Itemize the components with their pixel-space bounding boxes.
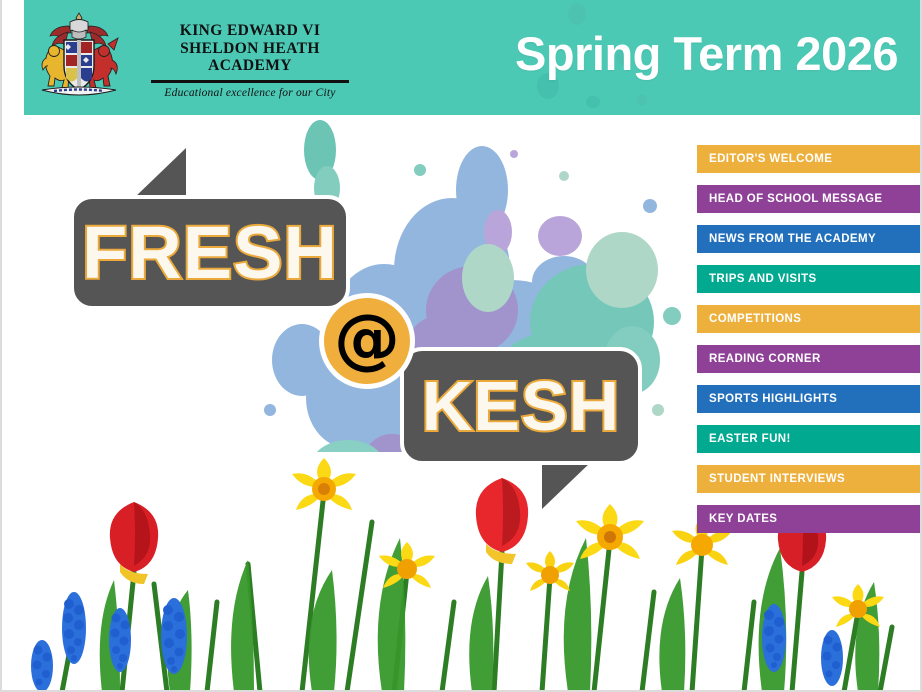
contents-menu-item[interactable]: STUDENT INTERVIEWS — [697, 465, 920, 493]
contents-menu: EDITOR'S WELCOMEHEAD OF SCHOOL MESSAGENE… — [697, 145, 920, 533]
contents-menu-item[interactable]: COMPETITIONS — [697, 305, 920, 333]
school-name-line-3: ACADEMY — [120, 57, 380, 75]
contents-menu-item-label: NEWS FROM THE ACADEMY — [709, 233, 876, 245]
newsletter-cover: KING EDWARD VI SHELDON HEATH ACADEMY Edu… — [0, 0, 922, 692]
kesh-bubble-tail — [542, 461, 606, 509]
contents-menu-item[interactable]: NEWS FROM THE ACADEMY — [697, 225, 920, 253]
contents-menu-item-label: READING CORNER — [709, 353, 821, 365]
contents-menu-item-label: TRIPS AND VISITS — [709, 273, 817, 285]
school-tagline: Educational excellence for our City — [120, 87, 380, 99]
contents-menu-item[interactable]: EASTER FUN! — [697, 425, 920, 453]
school-name-line-1: KING EDWARD VI — [120, 22, 380, 40]
fresh-bubble-tail — [122, 148, 186, 198]
contents-menu-item-label: KEY DATES — [709, 513, 777, 525]
school-name-divider — [151, 80, 349, 84]
kesh-bubble-label: KESH — [400, 347, 642, 465]
cover-artwork-area: FRESH @ KESH EDITOR'S WELCOMEHEAD OF SCH… — [2, 115, 920, 690]
contents-menu-item[interactable]: SPORTS HIGHLIGHTS — [697, 385, 920, 413]
page-header: KING EDWARD VI SHELDON HEATH ACADEMY Edu… — [2, 0, 922, 115]
contents-menu-item[interactable]: EDITOR'S WELCOME — [697, 145, 920, 173]
contents-menu-item[interactable]: READING CORNER — [697, 345, 920, 373]
fresh-bubble-label: FRESH — [70, 195, 350, 310]
contents-menu-item-label: STUDENT INTERVIEWS — [709, 473, 845, 485]
contents-menu-item-label: SPORTS HIGHLIGHTS — [709, 393, 837, 405]
page-title: Spring Term 2026 — [515, 26, 898, 81]
contents-menu-item[interactable]: HEAD OF SCHOOL MESSAGE — [697, 185, 920, 213]
contents-menu-item[interactable]: KEY DATES — [697, 505, 920, 533]
at-symbol-badge: @ — [319, 293, 415, 389]
school-name-block: KING EDWARD VI SHELDON HEATH ACADEMY Edu… — [120, 22, 380, 99]
school-name-line-2: SHELDON HEATH — [120, 40, 380, 58]
contents-menu-item-label: EDITOR'S WELCOME — [709, 153, 832, 165]
contents-menu-item-label: HEAD OF SCHOOL MESSAGE — [709, 193, 882, 205]
contents-menu-item-label: EASTER FUN! — [709, 433, 791, 445]
fresh-speech-bubble: FRESH — [70, 195, 350, 310]
kesh-speech-bubble: KESH — [400, 347, 642, 465]
school-crest-logo — [24, 8, 134, 108]
contents-menu-item-label: COMPETITIONS — [709, 313, 801, 325]
contents-menu-item[interactable]: TRIPS AND VISITS — [697, 265, 920, 293]
at-symbol-label: @ — [334, 306, 400, 372]
